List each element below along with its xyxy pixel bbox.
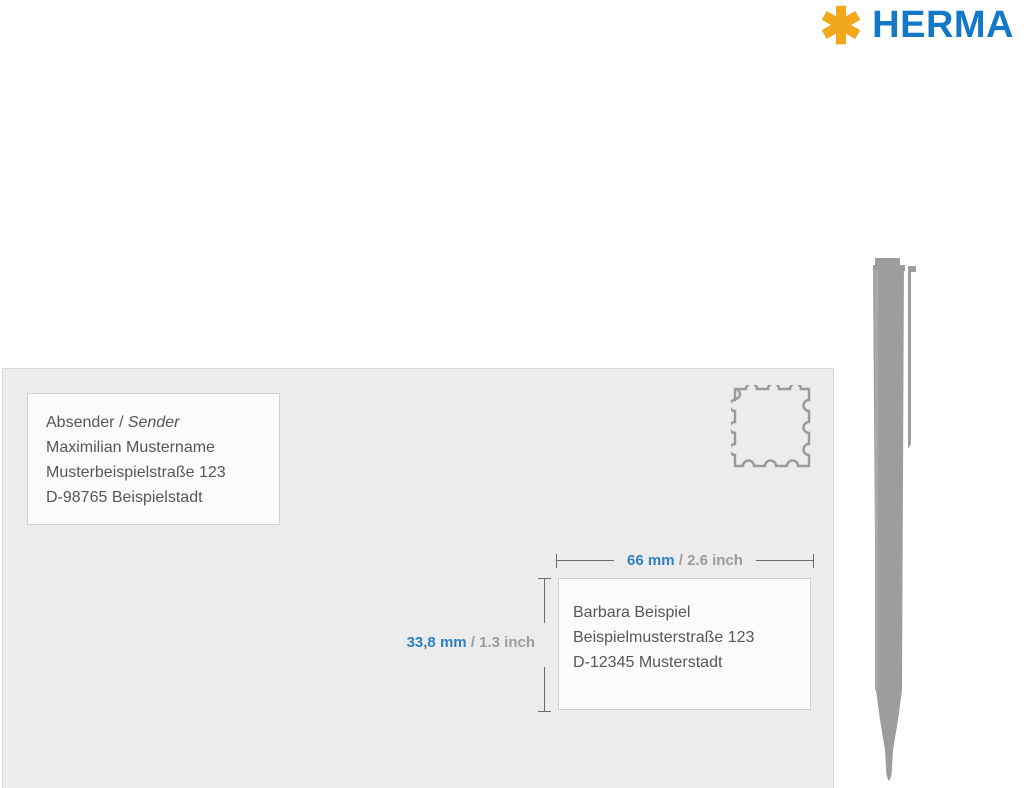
herma-logo: HERMA (820, 4, 1014, 46)
sender-line-4: D-98765 Beispielstadt (46, 485, 279, 510)
height-label: 33,8 mm / 1.3 inch (385, 632, 535, 654)
width-dimension: 66 mm / 2.6 inch (556, 550, 814, 572)
product-illustration-canvas: HERMA Absender / Sender Maximilian Muste… (0, 0, 1024, 788)
sender-address-label: Absender / Sender Maximilian Mustername … (27, 393, 280, 525)
height-tick-bottom (538, 711, 551, 712)
recipient-line-1: Barbara Beispiel (573, 600, 810, 625)
width-mm-value: 66 mm (627, 552, 675, 569)
height-rule-bottom (544, 667, 545, 711)
width-separator: / (675, 552, 688, 569)
sender-line-1-italic: Sender (128, 414, 180, 431)
recipient-address-label: Barbara Beispiel Beispielmusterstraße 12… (558, 578, 811, 710)
height-rule-top (544, 579, 545, 623)
sender-line-2: Maximilian Mustername (46, 435, 279, 460)
height-dimension (538, 578, 552, 712)
asterisk-star-icon (820, 4, 862, 46)
ballpoint-pen (862, 250, 926, 785)
herma-wordmark: HERMA (872, 4, 1014, 46)
height-mm-value: 33,8 mm (407, 634, 467, 651)
width-label: 66 mm / 2.6 inch (556, 550, 814, 572)
recipient-line-3: D-12345 Musterstadt (573, 650, 810, 675)
sender-line-1-prefix: Absender / (46, 414, 128, 431)
width-inch-value: 2.6 inch (687, 552, 743, 569)
sender-line-3: Musterbeispielstraße 123 (46, 460, 279, 485)
height-inch-value: 1.3 inch (479, 634, 535, 651)
sender-line-1: Absender / Sender (46, 410, 279, 435)
recipient-line-2: Beispielmusterstraße 123 (573, 625, 810, 650)
height-separator: / (467, 634, 480, 651)
postage-stamp-icon (731, 385, 813, 471)
